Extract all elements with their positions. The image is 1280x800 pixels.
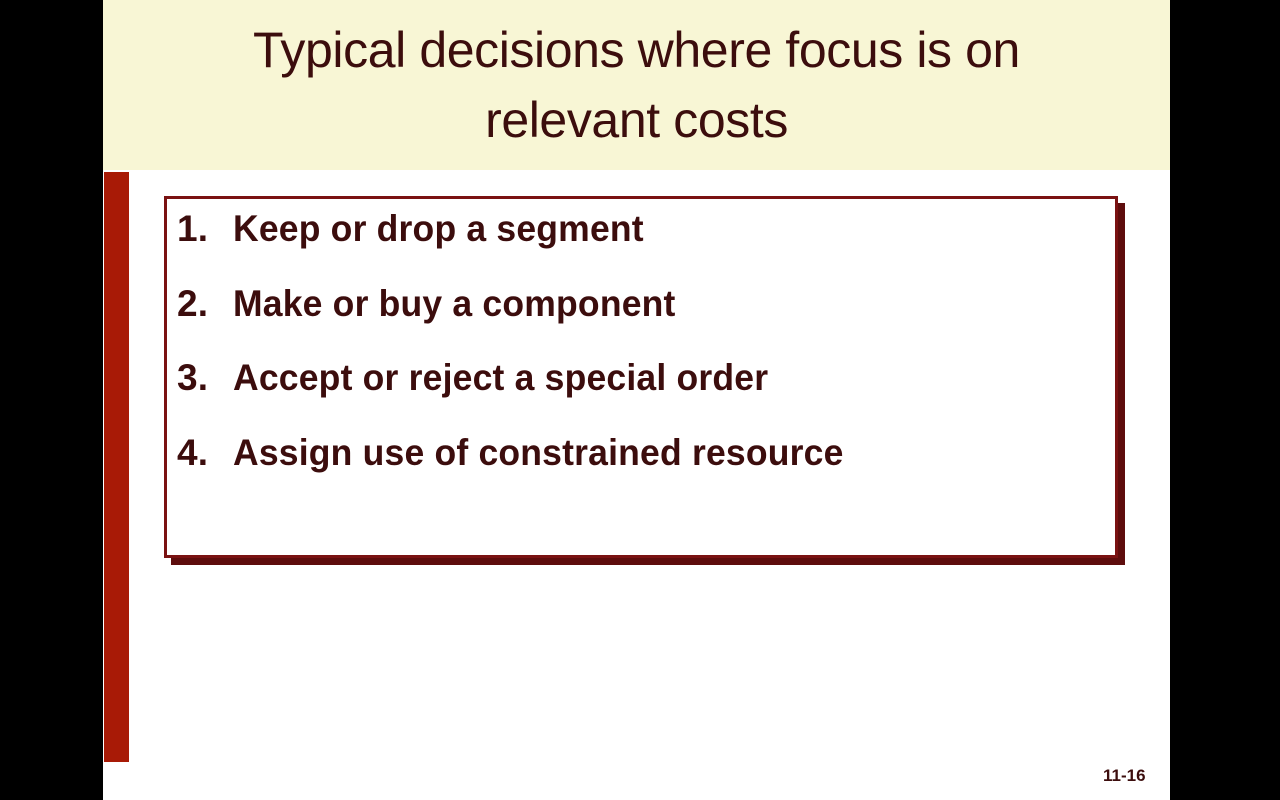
letterbox-left <box>0 0 103 800</box>
list-item-label: Make or buy a component <box>233 282 676 326</box>
slide-canvas: Typical decisions where focus is on rele… <box>103 0 1170 800</box>
list-item-number: 1. <box>177 207 233 251</box>
letterbox-right <box>1170 0 1280 800</box>
slide-title-line-2: relevant costs <box>485 85 788 155</box>
list-item-number: 3. <box>177 356 233 400</box>
slide-root: Typical decisions where focus is on rele… <box>0 0 1280 800</box>
slide-title-band: Typical decisions where focus is on rele… <box>103 0 1170 170</box>
list-item-label: Accept or reject a special order <box>233 356 768 400</box>
slide-title-line-1: Typical decisions where focus is on <box>253 15 1020 85</box>
list-item: 4. Assign use of constrained resource <box>177 431 869 475</box>
list-item: 3. Accept or reject a special order <box>177 356 791 400</box>
list-item-label: Assign use of constrained resource <box>233 431 844 475</box>
page-number: 11-16 <box>1103 766 1146 786</box>
list-item-label: Keep or drop a segment <box>233 207 644 251</box>
left-accent-bar <box>104 172 129 762</box>
list-item: 1. Keep or drop a segment <box>177 207 661 251</box>
decision-list-box: 1. Keep or drop a segment 2. Make or buy… <box>164 196 1118 558</box>
list-item: 2. Make or buy a component <box>177 282 694 326</box>
list-item-number: 4. <box>177 431 233 475</box>
list-item-number: 2. <box>177 282 233 326</box>
